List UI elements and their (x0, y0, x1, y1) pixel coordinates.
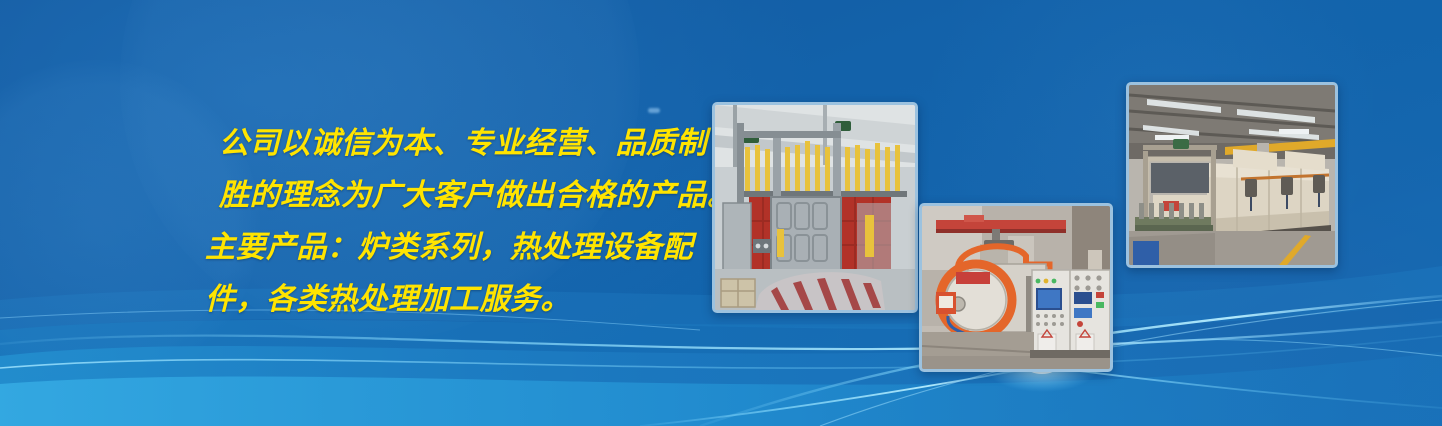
photo-furnace-row[interactable] (712, 102, 918, 313)
photo-furnace-line[interactable] (1126, 82, 1338, 268)
headline-line-1: 公司以诚信为本、专业经营、品质制 (205, 118, 735, 170)
light-speck-icon (648, 108, 660, 113)
headline-line-2: 胜的理念为广大客户做出合格的产品。 (205, 170, 735, 222)
photo-furnace-row-image (715, 105, 915, 310)
photo-furnace-line-image (1129, 85, 1335, 265)
headline-line-4: 件，各类热处理加工服务。 (205, 274, 735, 326)
photo-vacuum-furnace-image (922, 206, 1110, 369)
photo-vacuum-furnace[interactable] (919, 203, 1113, 372)
headline-line-3: 主要产品：炉类系列，热处理设备配 (205, 222, 735, 274)
headline-text: 公司以诚信为本、专业经营、品质制 胜的理念为广大客户做出合格的产品。 主要产品：… (205, 118, 735, 326)
company-banner: 公司以诚信为本、专业经营、品质制 胜的理念为广大客户做出合格的产品。 主要产品：… (0, 0, 1442, 426)
